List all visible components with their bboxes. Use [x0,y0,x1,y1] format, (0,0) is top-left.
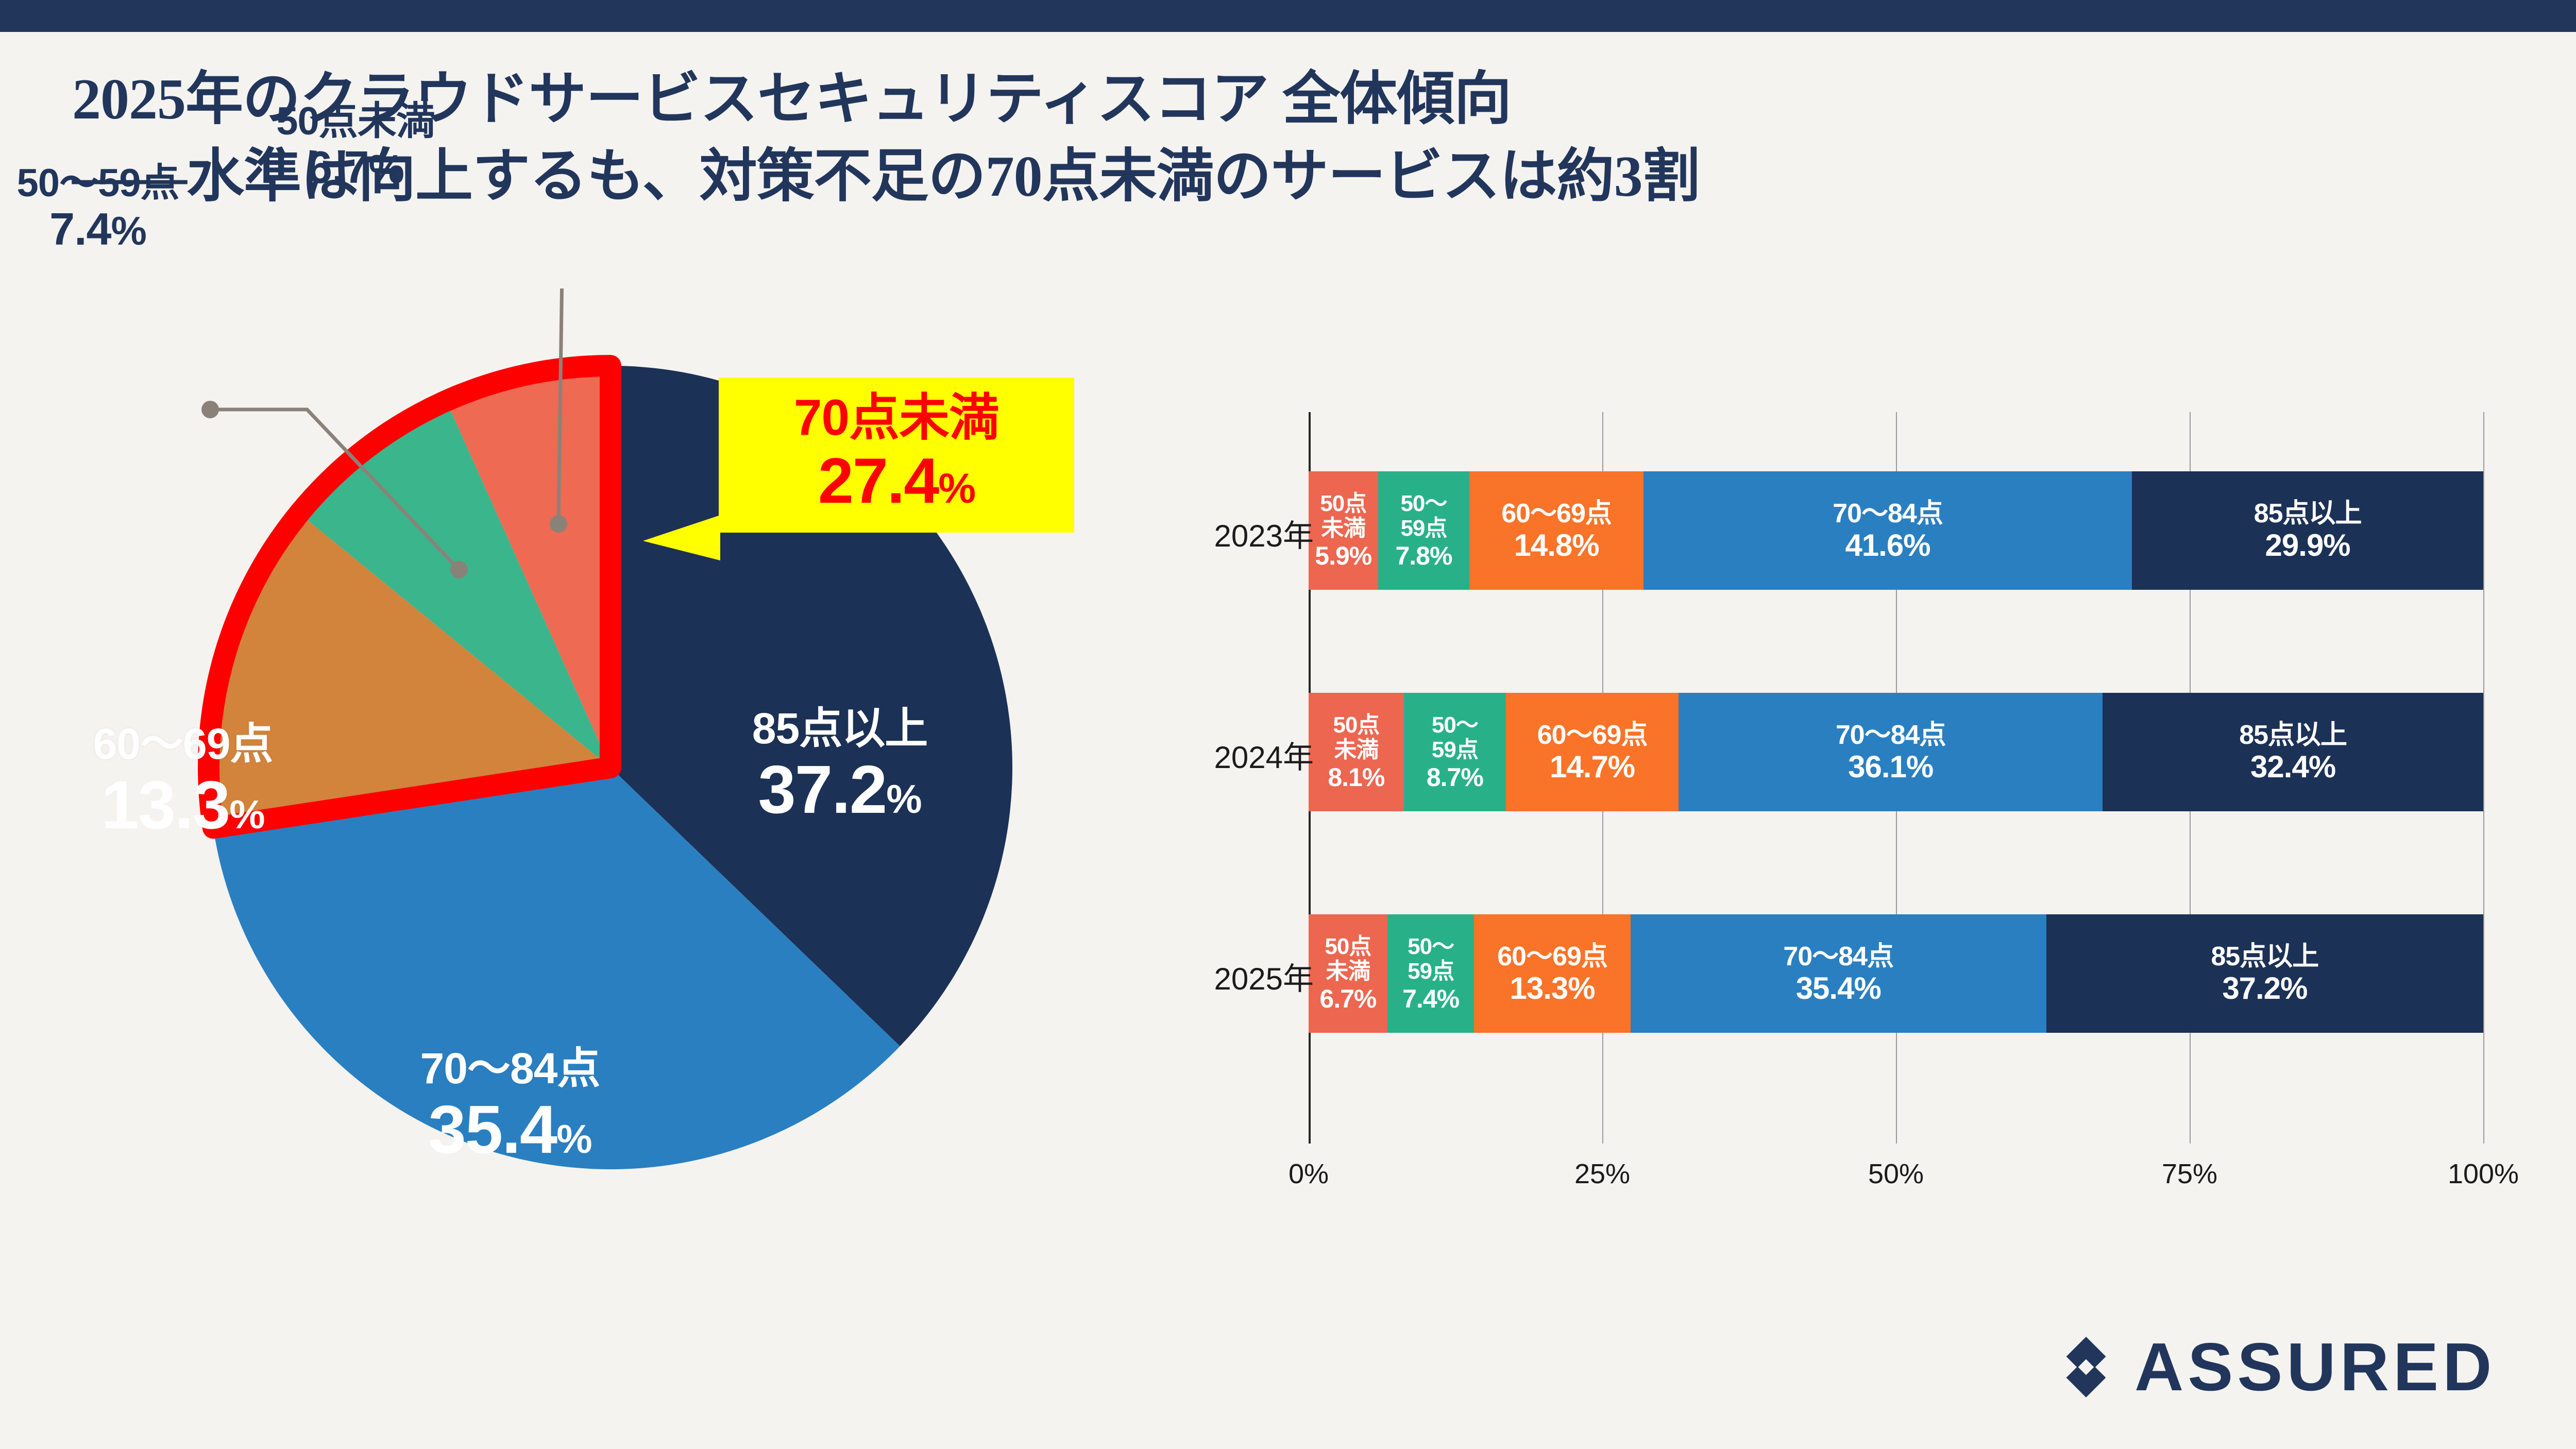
bar-segment-value: 7.4% [1402,985,1459,1013]
pie-label-70-84: 70〜84点 35.4% [350,1046,670,1166]
callout-tail-icon [643,515,720,560]
bar-segment-2024年-3: 70〜84点36.1% [1679,693,2103,811]
bar-year-label-2025年: 2025年 [1097,954,1314,999]
bar-row-2023年: 50点 未満5.9%50〜 59点7.8%60〜69点14.8%70〜84点41… [1309,471,2483,590]
assured-logo-text: ASSURED [2134,1328,2496,1406]
bar-segment-2024年-0: 50点 未満8.1% [1309,693,1404,811]
gridline-100% [2483,412,2484,1144]
bar-segment-value: 8.1% [1328,763,1384,791]
bar-segment-value: 6.7% [1319,985,1376,1013]
pie-label-85-and-above: 85点以上 37.2% [680,706,999,826]
bar-segment-2024年-1: 50〜 59点8.7% [1404,693,1506,811]
bar-segment-2024年-4: 85点以上32.4% [2103,693,2483,811]
bar-segment-label: 50点 未満 [1325,934,1371,983]
callout-label: 70点未満 [741,391,1052,445]
x-tick-100%: 100% [2448,1158,2519,1190]
bar-segment-2023年-0: 50点 未満5.9% [1309,471,1378,590]
bar-segment-value: 41.6% [1845,529,1930,562]
bar-row-2025年: 50点 未満6.7%50〜 59点7.4%60〜69点13.3%70〜84点35… [1309,914,2483,1033]
bar-segment-label: 50〜 59点 [1432,713,1478,762]
bar-segment-label: 70〜84点 [1783,942,1893,971]
bar-segment-label: 60〜69点 [1501,499,1612,528]
bar-segment-2025年-1: 50〜 59点7.4% [1387,914,1475,1033]
top-accent-bar [0,0,2576,32]
bar-segment-2025年-3: 70〜84点35.4% [1631,914,2046,1033]
bar-segment-label: 85点以上 [2211,942,2318,971]
bar-segment-value: 14.8% [1514,529,1599,562]
callout-value: 27.4% [741,448,1052,515]
x-tick-25%: 25% [1574,1158,1630,1190]
bar-segment-value: 32.4% [2250,751,2335,784]
pie-label-50-59: 50〜59点 7.4% [0,162,232,253]
pie-label-60-69: 60〜69点 13.3% [39,721,327,841]
bar-segment-label: 50点 未満 [1320,491,1366,540]
bar-year-label-2023年: 2023年 [1097,511,1314,556]
bar-segment-label: 85点以上 [2239,721,2347,749]
bar-segment-label: 60〜69点 [1497,942,1607,971]
bar-segment-2023年-4: 85点以上29.9% [2132,471,2483,590]
bar-segment-value: 37.2% [2222,972,2307,1005]
bar-segment-value: 5.9% [1315,542,1371,570]
x-tick-75%: 75% [2162,1158,2217,1190]
bar-segment-value: 29.9% [2265,529,2350,562]
bar-segment-2023年-1: 50〜 59点7.8% [1378,471,1470,590]
infographic-root: 2025年のクラウドサービスセキュリティスコア 全体傾向 ——水準は向上するも、… [0,0,2576,1449]
bar-segment-value: 13.3% [1510,972,1595,1005]
assured-logo: ASSURED [2053,1328,2496,1406]
bar-segment-value: 35.4% [1796,972,1881,1005]
bar-segment-2025年-4: 85点以上37.2% [2046,914,2483,1033]
bar-year-label-2024年: 2024年 [1097,732,1314,777]
assured-diamond-check-icon [2053,1334,2119,1400]
bar-segment-2025年-2: 60〜69点13.3% [1474,914,1630,1033]
bar-segment-label: 70〜84点 [1833,499,1943,528]
bar-segment-value: 7.8% [1395,542,1452,570]
bar-segment-2024年-2: 60〜69点14.7% [1506,693,1679,811]
bar-row-2024年: 50点 未満8.1%50〜 59点8.7%60〜69点14.7%70〜84点36… [1309,693,2483,811]
bar-segment-value: 14.7% [1550,751,1635,784]
bar-segment-value: 36.1% [1848,751,1933,784]
bar-segment-label: 50〜 59点 [1400,491,1447,540]
x-tick-0%: 0% [1289,1158,1329,1190]
bar-segment-value: 8.7% [1427,763,1483,791]
highlight-callout: 70点未満 27.4% [719,378,1074,533]
x-tick-50%: 50% [1868,1158,1924,1190]
pie-label-50-under: 50点未満 6.7% [216,100,495,192]
bar-segment-label: 50点 未満 [1333,713,1379,762]
bar-segment-label: 60〜69点 [1537,721,1648,749]
bar-segment-label: 85点以上 [2254,499,2362,528]
bar-segment-2023年-2: 60〜69点14.8% [1469,471,1643,590]
bar-segment-label: 70〜84点 [1836,721,1946,749]
bar-plot-region: 50点 未満5.9%50〜 59点7.8%60〜69点14.8%70〜84点41… [1309,412,2483,1144]
bar-segment-2023年-3: 70〜84点41.6% [1643,471,2132,590]
bar-segment-label: 50〜 59点 [1408,934,1454,983]
bar-segment-2025年-0: 50点 未満6.7% [1309,914,1387,1033]
stacked-bar-chart: 50点 未満5.9%50〜 59点7.8%60〜69点14.8%70〜84点41… [1226,412,2514,1216]
